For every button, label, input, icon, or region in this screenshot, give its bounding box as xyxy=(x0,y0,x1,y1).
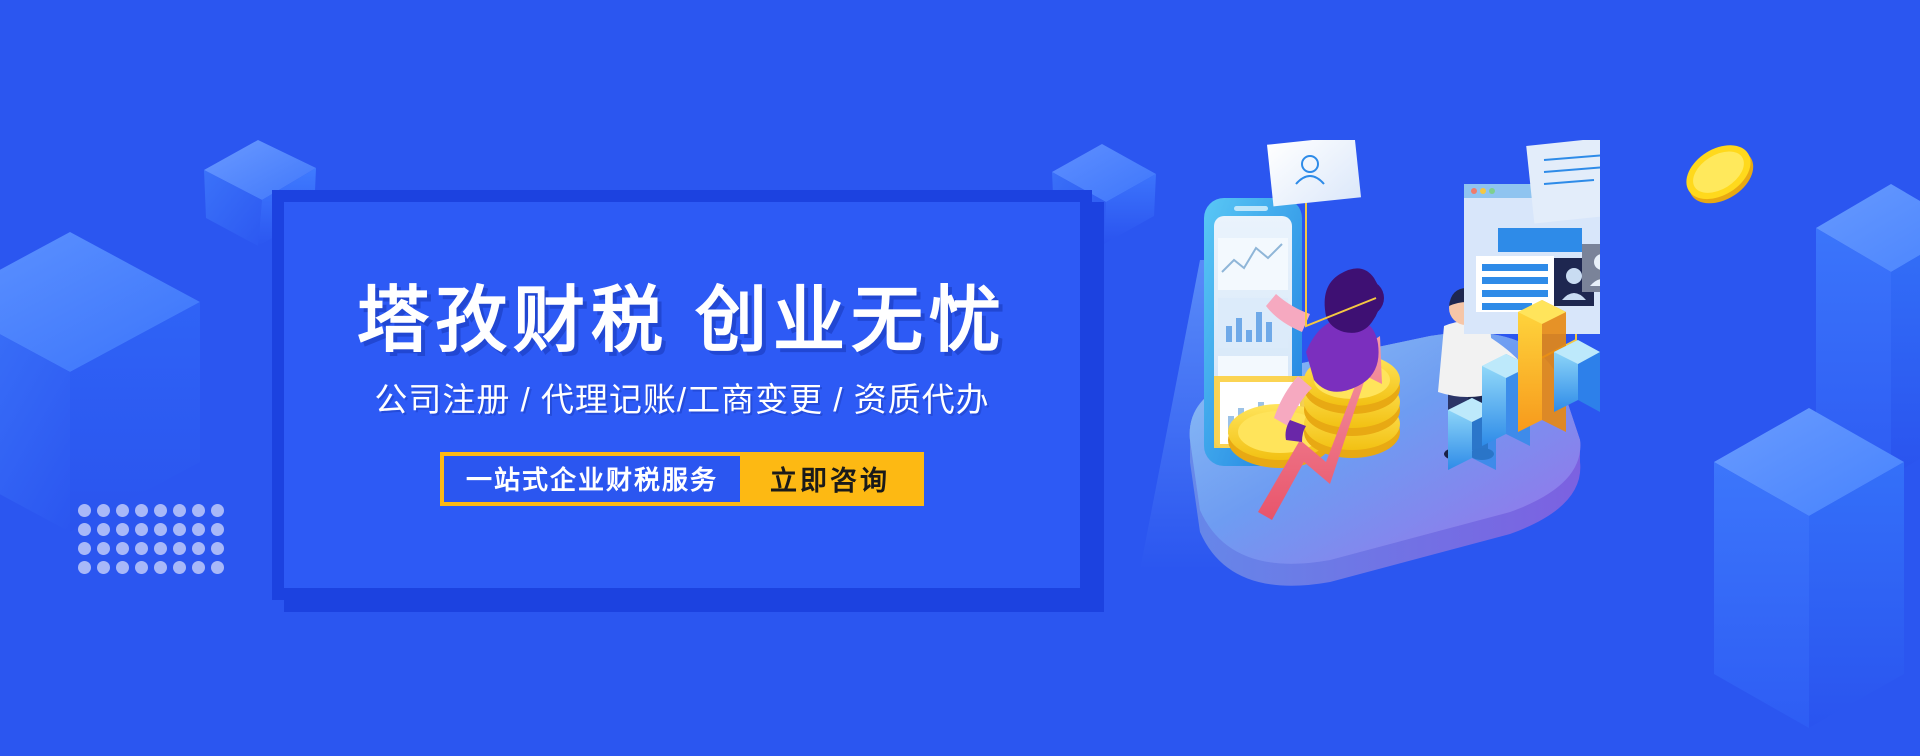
dot-grid-decoration xyxy=(78,504,230,580)
floating-document-card-illustration xyxy=(1526,140,1600,224)
page-title: 塔孜财税 创业无忧 xyxy=(357,285,1007,357)
isometric-business-illustration xyxy=(1130,140,1600,590)
floating-profile-card-illustration xyxy=(1267,140,1361,206)
cta-plaque-label: 一站式企业财税服务 xyxy=(444,456,740,502)
isometric-pillar-bottom-right-icon xyxy=(1714,398,1904,728)
copy-block: 塔孜财税 创业无忧 公司注册 / 代理记账/工商变更 / 资质代办 一站式企业财… xyxy=(272,190,1092,600)
isometric-cube-left-icon xyxy=(0,232,200,532)
promotional-banner: 塔孜财税 创业无忧 公司注册 / 代理记账/工商变更 / 资质代办 一站式企业财… xyxy=(0,0,1920,756)
consult-now-button[interactable]: 立即咨询 xyxy=(740,456,920,502)
gold-coin-top-right-icon xyxy=(1676,130,1762,216)
isometric-pillar-top-right-icon xyxy=(1816,176,1920,476)
service-list-subtitle: 公司注册 / 代理记账/工商变更 / 资质代办 xyxy=(374,383,989,416)
cta-bar[interactable]: 一站式企业财税服务 立即咨询 xyxy=(440,452,924,506)
